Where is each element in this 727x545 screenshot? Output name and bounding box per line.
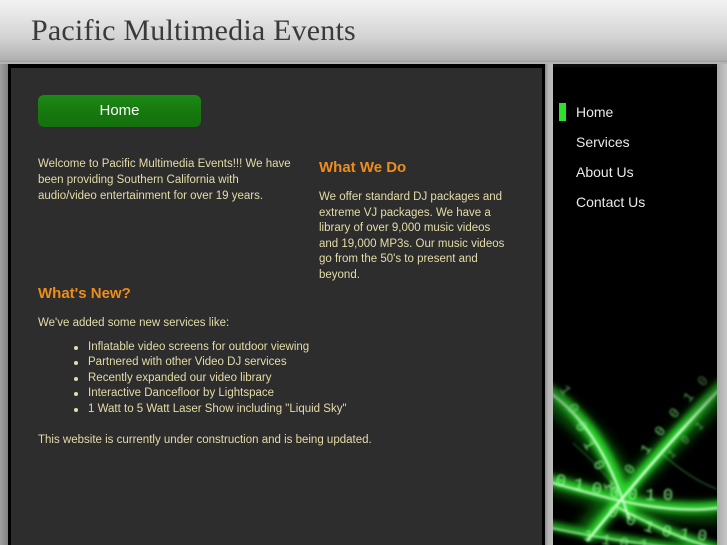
list-item: 1 Watt to 5 Watt Laser Show including "L… (74, 402, 518, 417)
sidebar-item-services[interactable]: Services (553, 127, 717, 157)
sidebar-item-label: Services (576, 134, 630, 150)
sidebar-item-about-us[interactable]: About Us (553, 157, 717, 187)
right-edge-shadow (717, 64, 727, 545)
whats-new-intro: We've added some new services like: (38, 315, 518, 331)
sidebar-item-label: Home (576, 104, 613, 120)
sidebar: 1 0 0 1 0 1 0 1 0 0 1 0 1 (553, 64, 717, 545)
green-binary-code-image: 1 0 0 1 0 1 0 1 0 0 1 0 1 (553, 267, 717, 545)
intro-paragraph: Welcome to Pacific Multimedia Events!!! … (38, 156, 293, 204)
under-construction-note: This website is currently under construc… (38, 432, 518, 448)
sidebar-nav: Home Services About Us Contact Us (553, 67, 717, 217)
what-we-do-heading: What We Do (319, 159, 509, 176)
main-content-panel: Home Welcome to Pacific Multimedia Event… (8, 64, 545, 545)
sidebar-item-label: Contact Us (576, 194, 645, 210)
list-item: Recently expanded our video library (74, 371, 518, 386)
sidebar-item-contact-us[interactable]: Contact Us (553, 187, 717, 217)
what-we-do-section: What We Do We offer standard DJ packages… (319, 159, 509, 283)
list-item: Inflatable video screens for outdoor vie… (74, 340, 518, 355)
list-item: Partnered with other Video DJ services (74, 355, 518, 370)
panel-gap (545, 64, 553, 545)
sidebar-item-home[interactable]: Home (553, 97, 717, 127)
site-header: Pacific Multimedia Events (0, 0, 727, 62)
page-title: Pacific Multimedia Events (31, 14, 356, 48)
what-we-do-body: We offer standard DJ packages and extrem… (319, 190, 509, 283)
home-button[interactable]: Home (38, 95, 201, 127)
sidebar-item-label: About Us (576, 164, 634, 180)
whats-new-section: What's New? We've added some new service… (38, 285, 518, 448)
list-item: Interactive Dancefloor by Lightspace (74, 386, 518, 401)
left-edge-shadow (0, 64, 8, 545)
whats-new-list: Inflatable video screens for outdoor vie… (38, 340, 518, 417)
whats-new-heading: What's New? (38, 285, 518, 302)
